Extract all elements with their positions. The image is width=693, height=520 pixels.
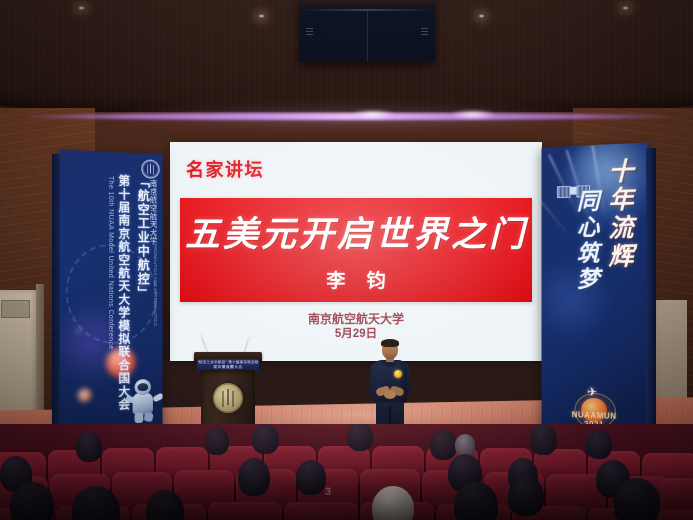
- audience-head: [455, 434, 475, 456]
- speaker-hands: [384, 390, 396, 399]
- led-hotspot: [452, 110, 494, 119]
- banner-right-edge: [646, 148, 656, 446]
- speaker-badge-icon: [394, 370, 402, 378]
- audience-head: [430, 430, 457, 460]
- auditorium-scene: 名家讲坛 五美元开启世界之门 李 钧 南京航空航天大学 5月29日 NANJIN…: [0, 0, 693, 520]
- audience-head-foreground: [614, 478, 660, 520]
- banner-left: NANJING UNIVERSITY OF AERONAUTICS AND AS…: [60, 150, 163, 445]
- audience-head: [252, 424, 279, 454]
- seat[interactable]: [656, 510, 693, 520]
- speaker-vent-right: [421, 28, 428, 37]
- astronaut-illustration: [130, 379, 159, 424]
- banner-left-university: 南京航空航天大学: [148, 179, 159, 245]
- banner-planet-small: [78, 389, 91, 403]
- screen-footer: 南京航空航天大学 5月29日: [170, 312, 542, 342]
- microphone-head-right: [248, 336, 252, 340]
- screen-title-band: 五美元开启世界之门 李 钧: [180, 198, 532, 302]
- podium: "航空工业中航控" 第十届南京航空航天大学 模拟联合国大会: [198, 352, 258, 434]
- ceiling-downlight: [258, 14, 265, 18]
- screen-title: 五美元开启世界之门: [180, 206, 532, 257]
- banner-right-calligraphy-line2: 同心筑梦: [569, 189, 602, 293]
- banner-left-english: The 10th NUAA Model United Nations Confe…: [107, 176, 114, 350]
- astronaut-leg-left: [135, 413, 144, 423]
- audience-head: [347, 424, 373, 451]
- audience-head: [586, 430, 612, 459]
- ceiling-downlight: [78, 6, 85, 10]
- screen-date: 5月29日: [170, 327, 542, 342]
- speaker-hair: [381, 339, 399, 347]
- screen-kicker-label: 名家讲坛: [186, 156, 264, 182]
- audience-head: [296, 460, 326, 495]
- banner-right-calligraphy-line1: 十年流辉: [600, 157, 636, 271]
- astronaut-leg-right: [143, 412, 153, 422]
- ceiling-downlight: [622, 6, 629, 10]
- screen-speaker-name: 李 钧: [180, 266, 532, 293]
- ceiling-downlight: [478, 14, 485, 18]
- banner-right: 十年流辉 同心筑梦 ✈ NUAAMUN 2021: [542, 142, 649, 447]
- astronaut-visor: [137, 383, 148, 391]
- audience-head: [205, 427, 229, 455]
- hanging-projector-speaker: [299, 0, 435, 62]
- audience-head: [530, 424, 557, 455]
- microphone-head-left: [200, 334, 204, 338]
- led-hotspot: [352, 110, 394, 119]
- podium-sign-line2: 模拟联合国大会: [197, 365, 260, 369]
- speaker-vent-left: [306, 28, 313, 37]
- podium-emblem-icon: [213, 383, 243, 413]
- audience-head: [238, 458, 270, 496]
- banner-left-title-line2: 第十届南京航空航天大学模拟联合国大会: [116, 174, 133, 411]
- audience-area: 3 1: [0, 424, 693, 520]
- airplane-icon: ✈: [587, 386, 597, 398]
- audience-head-foreground: [508, 476, 544, 516]
- astronaut-arm-right: [152, 392, 162, 402]
- seat[interactable]: [284, 502, 358, 520]
- screen-organization: 南京航空航天大学: [170, 312, 542, 327]
- led-strip: [25, 113, 673, 120]
- projection-screen: 名家讲坛 五美元开启世界之门 李 钧 南京航空航天大学 5月29日: [170, 142, 542, 361]
- banner-left-title-line1: 「航空工业中航控」: [135, 175, 150, 300]
- audience-head: [76, 432, 102, 462]
- seat[interactable]: [208, 502, 282, 520]
